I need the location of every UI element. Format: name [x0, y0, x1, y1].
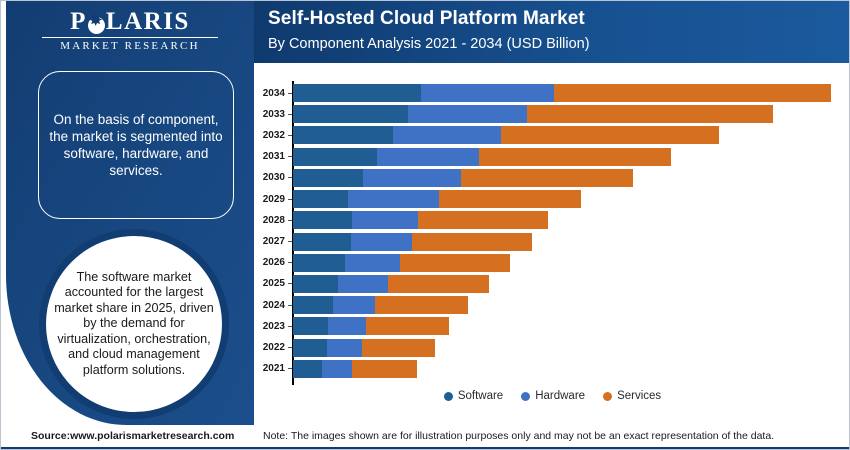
bar-segment-software	[293, 169, 363, 187]
legend-item[interactable]: Software	[444, 390, 503, 402]
bar-segment-hardware	[377, 148, 479, 166]
bar-segment-software	[293, 360, 322, 378]
bar-segment-services	[439, 190, 581, 208]
bar-segment-hardware	[338, 275, 388, 293]
logo-divider	[42, 37, 218, 38]
y-axis-label: 2023	[263, 321, 285, 332]
y-axis-label: 2034	[263, 88, 285, 99]
source-text: Source:www.polarismarketresearch.com	[31, 430, 234, 442]
bar-segment-software	[293, 339, 327, 357]
y-axis-label: 2029	[263, 194, 285, 205]
bar-segment-hardware	[421, 84, 554, 102]
chart-card: 2034203320322031203020292028202720262025…	[254, 63, 850, 417]
bar-segment-hardware	[327, 339, 362, 357]
bar-segment-services	[418, 211, 548, 229]
callout-box: On the basis of component, the market is…	[38, 71, 234, 219]
bar-segment-software	[293, 126, 393, 144]
bar-segment-services	[352, 360, 417, 378]
chart-header: Self-Hosted Cloud Platform Market By Com…	[254, 1, 850, 63]
bar-segment-software	[293, 148, 377, 166]
legend-label: Software	[458, 390, 503, 402]
y-axis-label: 2031	[263, 151, 285, 162]
bar-segment-services	[527, 105, 773, 123]
y-axis-label: 2027	[263, 236, 285, 247]
legend-item[interactable]: Hardware	[521, 390, 585, 402]
bar-rows-container: 2034203320322031203020292028202720262025…	[293, 83, 838, 379]
y-axis-tick	[288, 368, 292, 369]
bar-segment-services	[412, 233, 532, 251]
bar-segment-hardware	[351, 233, 412, 251]
bar-row: 2026	[293, 253, 838, 273]
bar-segment-services	[554, 84, 831, 102]
y-axis-label: 2021	[263, 363, 285, 374]
bar-segment-services	[366, 317, 449, 335]
y-axis-tick	[288, 177, 292, 178]
bar-segment-services	[400, 254, 510, 272]
y-axis-tick	[288, 156, 292, 157]
bar-row: 2025	[293, 274, 838, 294]
bar-segment-software	[293, 233, 351, 251]
bar-row: 2028	[293, 210, 838, 230]
bar-segment-services	[388, 275, 489, 293]
legend-item[interactable]: Services	[603, 390, 661, 402]
bar-row: 2021	[293, 359, 838, 379]
bar-row: 2029	[293, 189, 838, 209]
bar-segment-hardware	[352, 211, 418, 229]
legend-label: Services	[617, 390, 661, 402]
y-axis-label: 2024	[263, 300, 285, 311]
y-axis-tick	[288, 326, 292, 327]
note-text: Note: The images shown are for illustrat…	[263, 430, 774, 442]
y-axis-tick	[288, 114, 292, 115]
bar-segment-services	[461, 169, 633, 187]
brand-name-part2: LARIS	[106, 8, 190, 35]
bar-row: 2031	[293, 147, 838, 167]
y-axis-label: 2026	[263, 257, 285, 268]
bar-segment-hardware	[393, 126, 501, 144]
y-axis-tick	[288, 93, 292, 94]
bar-segment-software	[293, 190, 348, 208]
bar-segment-software	[293, 254, 345, 272]
y-axis-tick	[288, 199, 292, 200]
bar-segment-software	[293, 84, 421, 102]
y-axis-label: 2022	[263, 342, 285, 353]
bar-row: 2034	[293, 83, 838, 103]
bar-segment-hardware	[345, 254, 400, 272]
bar-segment-software	[293, 105, 408, 123]
bar-segment-services	[479, 148, 671, 166]
bar-row: 2023	[293, 316, 838, 336]
brand-name: PLARIS	[6, 9, 254, 35]
brand-tagline: MARKET RESEARCH	[6, 40, 254, 52]
legend-label: Hardware	[535, 390, 585, 402]
brand-name-part1: P	[70, 8, 87, 35]
bar-row: 2022	[293, 338, 838, 358]
legend-dot-icon	[444, 392, 453, 401]
bar-segment-hardware	[328, 317, 366, 335]
y-axis-label: 2030	[263, 172, 285, 183]
bar-segment-software	[293, 211, 352, 229]
callout-circle-text: The software market accounted for the la…	[54, 270, 214, 379]
brand-logo: PLARIS MARKET RESEARCH	[6, 9, 254, 59]
y-axis-label: 2032	[263, 130, 285, 141]
y-axis-tick	[288, 262, 292, 263]
bar-segment-hardware	[363, 169, 461, 187]
page-title: Self-Hosted Cloud Platform Market	[268, 8, 850, 30]
y-axis-tick	[288, 220, 292, 221]
bar-segment-hardware	[348, 190, 439, 208]
y-axis-tick	[288, 305, 292, 306]
chart-legend: SoftwareHardwareServices	[254, 385, 850, 407]
legend-dot-icon	[521, 392, 530, 401]
bar-segment-hardware	[333, 296, 375, 314]
bar-row: 2030	[293, 168, 838, 188]
y-axis-tick	[288, 283, 292, 284]
callout-circle: The software market accounted for the la…	[39, 229, 229, 419]
y-axis-label: 2033	[263, 109, 285, 120]
callout-box-text: On the basis of component, the market is…	[49, 111, 223, 179]
y-axis-tick	[288, 135, 292, 136]
bar-segment-services	[375, 296, 468, 314]
bar-row: 2033	[293, 104, 838, 124]
bar-segment-services	[362, 339, 435, 357]
star-icon	[88, 17, 105, 34]
bar-segment-hardware	[408, 105, 527, 123]
y-axis-label: 2025	[263, 278, 285, 289]
bar-segment-software	[293, 317, 328, 335]
bar-segment-software	[293, 296, 333, 314]
chart-plot-area: 2034203320322031203020292028202720262025…	[293, 83, 838, 383]
bar-segment-hardware	[322, 360, 352, 378]
legend-dot-icon	[603, 392, 612, 401]
infographic-frame: PLARIS MARKET RESEARCH On the basis of c…	[0, 0, 850, 450]
bar-row: 2024	[293, 295, 838, 315]
bar-segment-software	[293, 275, 338, 293]
bar-segment-services	[501, 126, 719, 144]
page-subtitle: By Component Analysis 2021 - 2034 (USD B…	[268, 36, 850, 52]
bar-row: 2027	[293, 232, 838, 252]
bar-row: 2032	[293, 125, 838, 145]
y-axis-label: 2028	[263, 215, 285, 226]
y-axis-tick	[288, 241, 292, 242]
y-axis-tick	[288, 347, 292, 348]
